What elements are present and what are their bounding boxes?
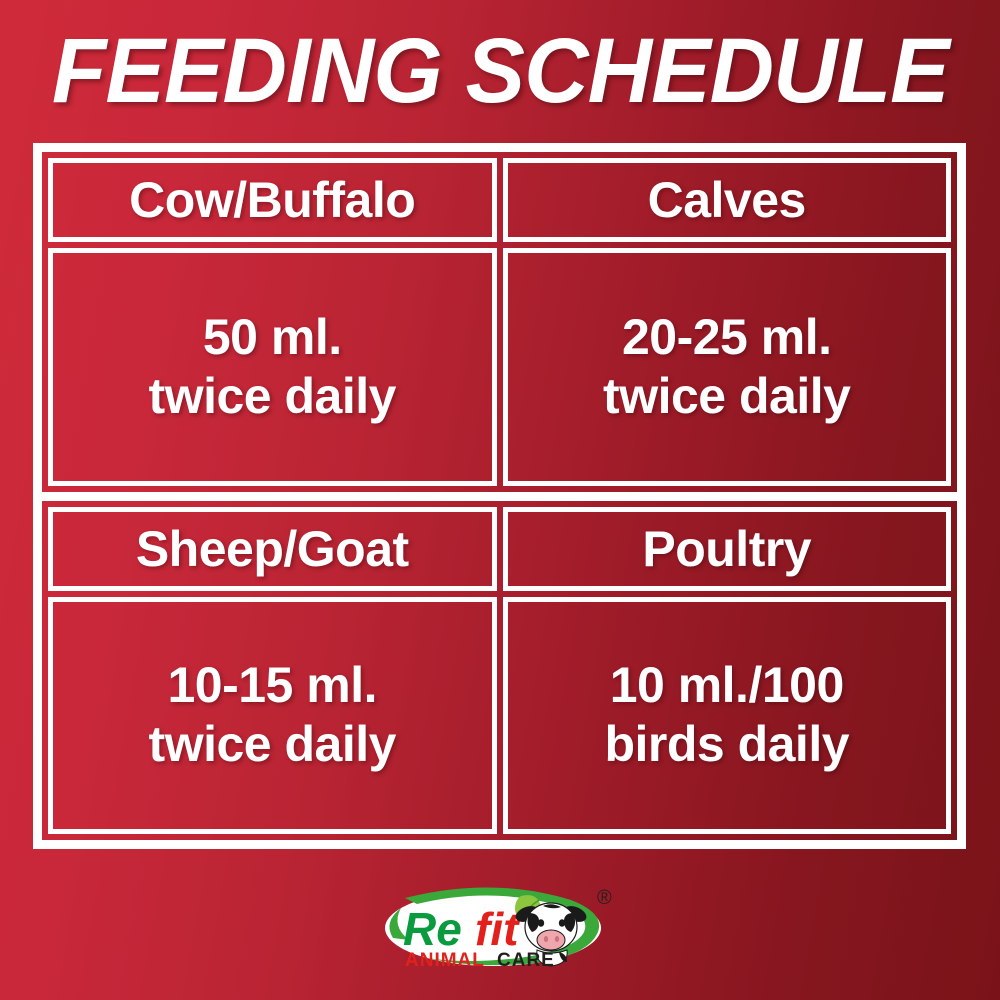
- table-value-row-1: 50 ml. twice daily 20-25 ml. twice daily: [48, 248, 951, 486]
- header-cell-poultry: Poultry: [503, 507, 952, 591]
- value-line-frequency-cow-buffalo: twice daily: [149, 367, 396, 426]
- value-line-dose-sheep-goat: 10-15 ml.: [149, 656, 396, 715]
- value-text-cow-buffalo: 50 ml. twice daily: [143, 308, 402, 426]
- value-cell-cow-buffalo: 50 ml. twice daily: [48, 248, 497, 486]
- value-line-frequency-poultry: birds daily: [604, 715, 849, 774]
- logo-tagline-part-1: ANIMAL: [405, 950, 485, 971]
- table-header-row-1: Cow/Buffalo Calves: [48, 158, 951, 248]
- value-text-calves: 20-25 ml. twice daily: [597, 308, 856, 426]
- header-cell-calves: Calves: [503, 158, 952, 242]
- logo-brand-part-2: fit: [475, 903, 520, 955]
- value-line-dose-poultry: 10 ml./100: [604, 656, 849, 715]
- header-label-cow-buffalo: Cow/Buffalo: [129, 175, 415, 225]
- registered-trademark-icon: ®: [597, 887, 612, 909]
- brand-logo-svg: Re fit: [375, 882, 625, 974]
- feeding-schedule-table: Cow/Buffalo Calves 50 ml. twice daily 20…: [33, 143, 966, 849]
- table-header-row-2: Sheep/Goat Poultry: [48, 507, 951, 597]
- header-label-calves: Calves: [648, 175, 806, 225]
- page-title: FEEDING SCHEDULE: [52, 28, 949, 115]
- table-value-row-2: 10-15 ml. twice daily 10 ml./100 birds d…: [48, 597, 951, 835]
- header-cell-sheep-goat: Sheep/Goat: [48, 507, 497, 591]
- header-label-poultry: Poultry: [642, 524, 811, 574]
- page-title-container: FEEDING SCHEDULE: [0, 24, 1000, 120]
- value-text-sheep-goat: 10-15 ml. twice daily: [143, 656, 402, 774]
- value-line-frequency-calves: twice daily: [603, 367, 850, 426]
- logo-brand-part-1: Re: [403, 903, 462, 955]
- header-label-sheep-goat: Sheep/Goat: [136, 524, 409, 574]
- header-cell-cow-buffalo: Cow/Buffalo: [48, 158, 497, 242]
- value-line-dose-calves: 20-25 ml.: [603, 308, 850, 367]
- logo-tagline-part-2: CARE: [497, 950, 555, 971]
- value-cell-calves: 20-25 ml. twice daily: [503, 248, 952, 486]
- table-row-group-1: Cow/Buffalo Calves 50 ml. twice daily 20…: [42, 152, 957, 501]
- brand-logo: Re fit: [375, 882, 625, 974]
- value-line-frequency-sheep-goat: twice daily: [149, 715, 396, 774]
- table-row-group-2: Sheep/Goat Poultry 10-15 ml. twice daily…: [42, 501, 957, 841]
- value-line-dose-cow-buffalo: 50 ml.: [149, 308, 396, 367]
- value-cell-sheep-goat: 10-15 ml. twice daily: [48, 597, 497, 835]
- value-cell-poultry: 10 ml./100 birds daily: [503, 597, 952, 835]
- value-text-poultry: 10 ml./100 birds daily: [598, 656, 855, 774]
